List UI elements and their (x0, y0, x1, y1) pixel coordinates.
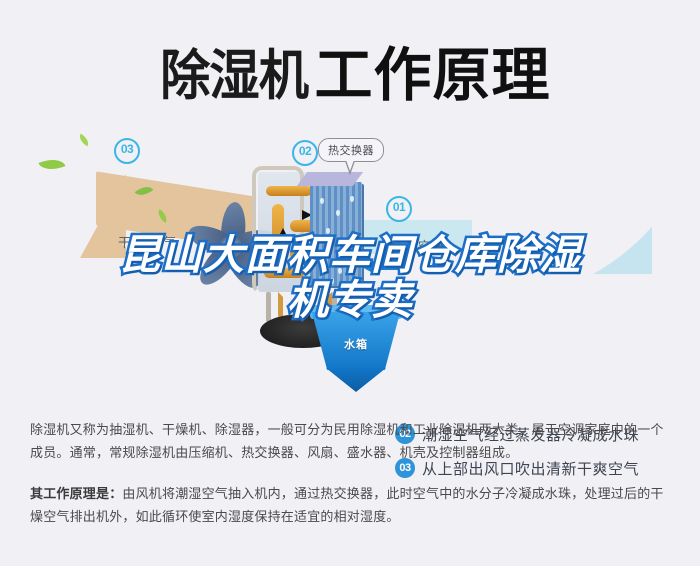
dehumidifier-diagram: 水箱 热交换器 03 02 01 干燥空气 潮湿空气 02 潮湿空气经过蒸发器冷… (0, 120, 700, 410)
page-title-part2: 工作原理 (314, 28, 550, 112)
page-title: 除湿机工作原理 (0, 28, 700, 112)
description-paragraph-1: 除湿机又称为抽湿机、干燥机、除湿器，一般可分为民用除湿机和工业除湿机两大类，属于… (30, 418, 675, 464)
diagram-badge-01: 01 (386, 196, 412, 222)
air-inlet-arrow-icon (358, 258, 404, 272)
water-tank-graphic: 水箱 (308, 312, 404, 392)
description-paragraph-2: 其工作原理是：由风机将潮湿空气抽入机内，通过热交换器，此时空气中的水分子冷凝成水… (30, 482, 675, 528)
flow-arrow-up-icon (278, 228, 288, 238)
water-tank-label: 水箱 (308, 336, 404, 352)
evaporator-fins-graphic (310, 182, 362, 286)
page-root: 除湿机工作原理 (0, 0, 700, 566)
humid-air-label: 潮湿空气 (388, 236, 448, 255)
description-block: 除湿机又称为抽湿机、干燥机、除湿器，一般可分为民用除湿机和工业除湿机两大类，属于… (30, 418, 675, 528)
leaf-icon (77, 134, 91, 147)
diagram-badge-03: 03 (114, 138, 140, 164)
dry-air-label: 干燥空气 (118, 232, 178, 251)
description-paragraph-2-rest: 由风机将潮湿空气抽入机内，通过热交换器，此时空气中的水分子冷凝成水珠，处理过后的… (30, 486, 664, 524)
leaf-icon (38, 154, 65, 175)
description-paragraph-2-prefix: 其工作原理是： (30, 486, 122, 501)
page-title-part1: 除湿机 (161, 31, 309, 110)
heat-exchanger-callout: 热交换器 (318, 138, 384, 162)
diagram-badge-02: 02 (292, 140, 318, 166)
machine-internals-graphic: 水箱 (246, 164, 366, 368)
